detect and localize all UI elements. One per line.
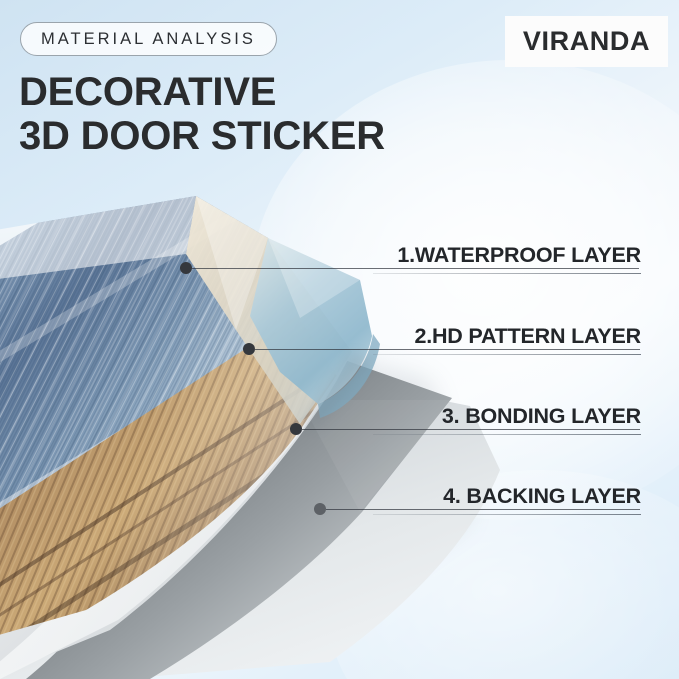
brand-name: VIRANDA: [523, 26, 650, 57]
poster-canvas: MATERIAL ANALYSIS DECORATIVE 3D DOOR STI…: [0, 0, 679, 679]
callout-1-underline: [373, 273, 641, 274]
hd-pattern-layer-fold: [268, 238, 360, 318]
page-title-line-2: 3D DOOR STICKER: [19, 114, 479, 158]
page-title-line-1: DECORATIVE: [19, 70, 479, 114]
callout-2-label: 2.HD PATTERN LAYER: [373, 324, 641, 349]
brand-logo: VIRANDA: [505, 16, 668, 67]
callout-3-underline: [373, 434, 641, 435]
callout-3: 3. BONDING LAYER: [373, 404, 641, 435]
photo-sheet-top-edge: [0, 196, 196, 284]
callout-2: 2.HD PATTERN LAYER: [373, 324, 641, 355]
page-title: DECORATIVE 3D DOOR STICKER: [19, 70, 479, 158]
waterproof-layer-film: [186, 196, 352, 424]
callout-4: 4. BACKING LAYER: [373, 484, 641, 515]
callout-dot-3: [290, 423, 302, 435]
eyebrow-badge: MATERIAL ANALYSIS: [20, 22, 277, 56]
callout-2-underline: [373, 354, 641, 355]
waterproof-layer-fold: [196, 196, 268, 330]
callout-1: 1.WATERPROOF LAYER: [373, 243, 641, 274]
callout-dot-2: [243, 343, 255, 355]
callout-4-label: 4. BACKING LAYER: [373, 484, 641, 509]
callout-3-label: 3. BONDING LAYER: [373, 404, 641, 429]
callout-1-label: 1.WATERPROOF LAYER: [373, 243, 641, 268]
callout-4-underline: [373, 514, 641, 515]
hd-pattern-layer-lip: [318, 334, 380, 418]
eyebrow-label: MATERIAL ANALYSIS: [41, 30, 256, 49]
callout-dot-1: [180, 262, 192, 274]
film-contact-shadow: [300, 352, 372, 430]
hd-pattern-layer-film: [250, 238, 372, 404]
callout-dot-4: [314, 503, 326, 515]
